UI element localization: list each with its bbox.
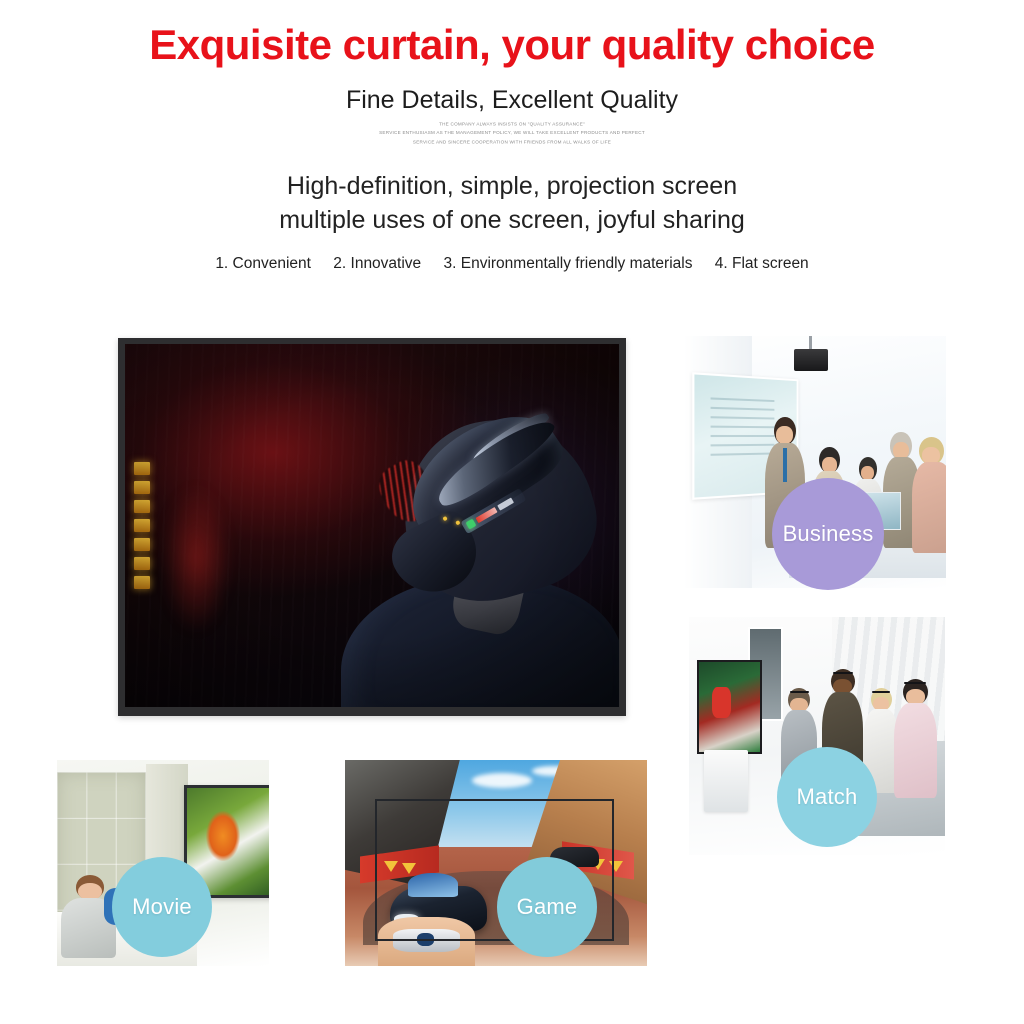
company-microcopy: THE COMPANY ALWAYS INSISTS ON "QUALITY A… [0,120,1024,147]
badge-movie[interactable]: Movie [112,857,212,957]
game-chevron-icon [402,863,416,874]
match-viewer-4 [894,679,938,798]
match-television [697,660,762,754]
feature-item-1: 1. Convenient [215,255,311,272]
feature-item-4: 4. Flat screen [715,255,809,272]
business-attendee-4 [912,437,946,553]
page-subheadline: Fine Details, Excellent Quality [0,86,1024,115]
figure-head [381,398,612,621]
game-controller [393,929,459,952]
badge-match[interactable]: Match [777,747,877,847]
scene-game [345,760,647,966]
hero-armored-figure [323,366,619,707]
game-chevron-icon [384,861,398,872]
feature-item-2: 2. Innovative [333,255,421,272]
product-banner-page: Exquisite curtain, your quality choice F… [0,0,1024,1024]
feature-list: 1. Convenient 2. Innovative 3. Environme… [0,255,1024,273]
feature-item-3: 3. Environmentally friendly materials [444,255,693,272]
microcopy-line-1: THE COMPANY ALWAYS INSISTS ON "QUALITY A… [0,120,1024,129]
body-copy: High-definition, simple, projection scre… [0,170,1024,238]
microcopy-line-3: SERVICE AND SINCERE COOPERATION WITH FRI… [0,138,1024,147]
hero-screen-image [125,344,619,707]
game-chevron-icon [609,861,623,872]
game-photo [345,760,647,966]
hero-red-glow [161,484,231,634]
body-copy-line-2: multiple uses of one screen, joyful shar… [0,204,1024,238]
body-copy-line-1: High-definition, simple, projection scre… [0,170,1024,204]
match-tv-stand [704,750,748,812]
ceiling-projector-icon [794,349,828,372]
hero-projection-screen [118,338,626,716]
microcopy-line-2: SERVICE ENTHUSIASM AS THE MANAGEMENT POL… [0,129,1024,138]
badge-business[interactable]: Business [772,478,884,590]
hero-amber-signage [134,462,150,590]
badge-game[interactable]: Game [497,857,597,957]
page-headline: Exquisite curtain, your quality choice [0,22,1024,68]
